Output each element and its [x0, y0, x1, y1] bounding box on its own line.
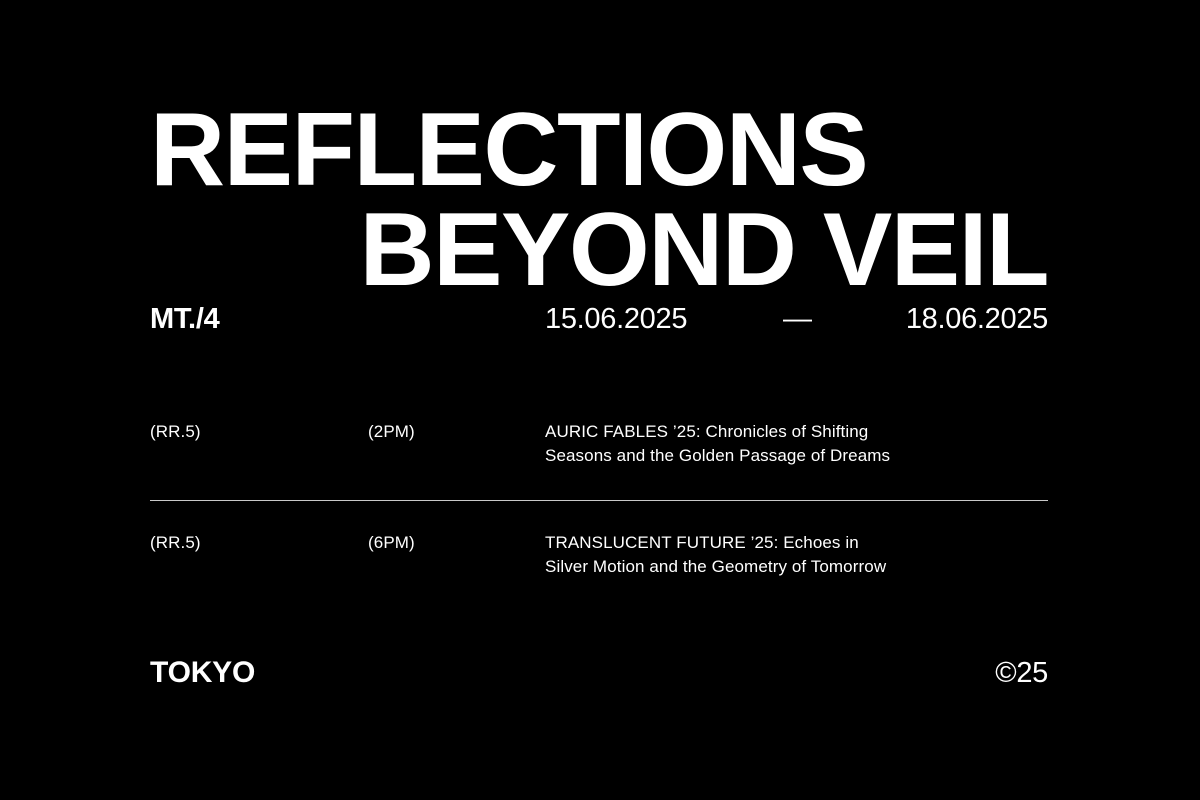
schedule-event-title: TRANSLUCENT FUTURE ’25: Echoes in Silver… [545, 531, 895, 578]
schedule-list: (RR.5) (2PM) AURIC FABLES ’25: Chronicle… [150, 420, 1048, 611]
schedule-event-title: AURIC FABLES ’25: Chronicles of Shifting… [545, 420, 895, 467]
schedule-time: (2PM) [368, 420, 545, 443]
date-end: 18.06.2025 [906, 303, 1048, 336]
title-line-1: REFLECTIONS [150, 100, 1048, 200]
footer-city: TOKYO [150, 656, 255, 690]
date-range-dash-icon: — [783, 303, 812, 336]
schedule-row: (RR.5) (6PM) TRANSLUCENT FUTURE ’25: Ech… [150, 500, 1048, 611]
date-start: 15.06.2025 [545, 303, 687, 336]
schedule-row: (RR.5) (2PM) AURIC FABLES ’25: Chronicle… [150, 420, 1048, 500]
schedule-room-ref: (RR.5) [150, 531, 368, 554]
schedule-time: (6PM) [368, 531, 545, 554]
edition-label: MT./4 [150, 303, 219, 336]
schedule-room-ref: (RR.5) [150, 420, 368, 443]
poster-title: REFLECTIONS BEYOND VEIL [150, 100, 1048, 300]
poster-canvas: REFLECTIONS BEYOND VEIL MT./4 15.06.2025… [0, 0, 1200, 800]
footer-copyright: ©25 [995, 657, 1048, 690]
title-line-2: BEYOND VEIL [150, 200, 1048, 300]
poster-footer: TOKYO ©25 [150, 656, 1048, 696]
meta-row: MT./4 15.06.2025 — 18.06.2025 [150, 303, 1048, 343]
